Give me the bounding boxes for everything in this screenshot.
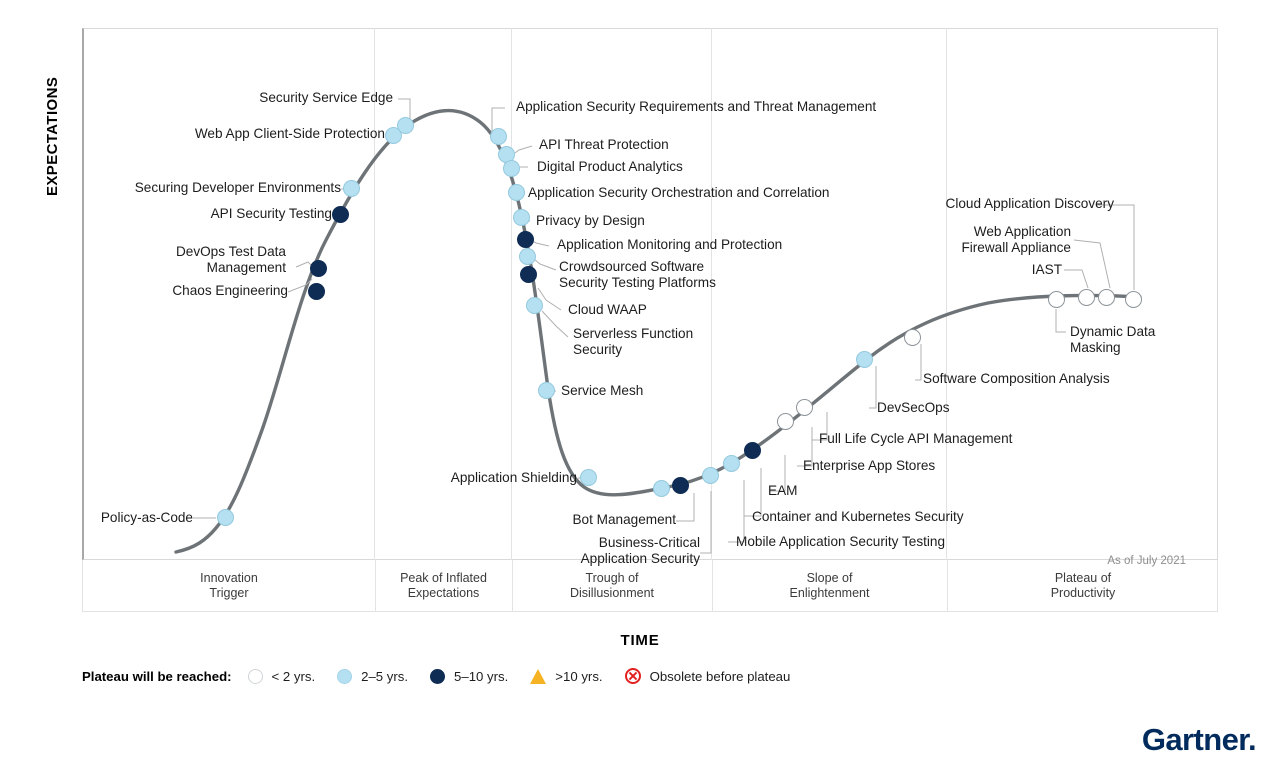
phase-plateau-of-productivity: Plateau of Productivity — [947, 560, 1219, 612]
y-axis-title: EXPECTATIONS — [44, 0, 61, 196]
label-devsecops: DevSecOps — [877, 400, 950, 416]
point-service-mesh[interactable] — [538, 382, 555, 399]
label-web-application-firewall-appliance: Web Application Firewall Appliance — [961, 224, 1071, 256]
phase-label-line: Trough of — [585, 571, 638, 586]
point-container-and-kubernetes-security[interactable] — [723, 455, 740, 472]
phase-slope-of-enlightenment: Slope of Enlightenment — [712, 560, 947, 612]
circle-open-icon — [248, 669, 263, 684]
point-bot-management[interactable] — [653, 480, 670, 497]
legend-label: 5–10 yrs. — [454, 669, 508, 684]
point-application-monitoring-and-protection[interactable] — [517, 231, 534, 248]
point-dynamic-data-masking[interactable] — [1048, 291, 1065, 308]
label-enterprise-app-stores: Enterprise App Stores — [803, 458, 935, 474]
point-business-critical-application-security[interactable] — [672, 477, 689, 494]
point-cloud-application-discovery[interactable] — [1125, 291, 1142, 308]
legend-item-lt2[interactable]: < 2 yrs. — [248, 669, 316, 684]
label-eam: EAM — [768, 483, 797, 499]
phase-label-line: Expectations — [408, 586, 480, 601]
footer-bar — [0, 706, 1280, 768]
label-cloud-waap: Cloud WAAP — [568, 302, 647, 318]
legend-item-2-5[interactable]: 2–5 yrs. — [337, 669, 408, 684]
phase-row: Innovation Trigger Peak of Inflated Expe… — [82, 560, 1218, 612]
label-digital-product-analytics: Digital Product Analytics — [537, 159, 683, 175]
legend-label: < 2 yrs. — [272, 669, 316, 684]
label-application-monitoring-and-protection: Application Monitoring and Protection — [557, 237, 782, 253]
point-serverless-function-security[interactable] — [526, 297, 543, 314]
phase-label-line: Disillusionment — [570, 586, 654, 601]
legend: Plateau will be reached: < 2 yrs. 2–5 yr… — [82, 664, 812, 688]
label-service-mesh: Service Mesh — [561, 383, 643, 399]
phase-innovation-trigger: Innovation Trigger — [83, 560, 375, 612]
label-mobile-application-security-testing: Mobile Application Security Testing — [736, 534, 945, 550]
label-web-app-client-side-protection: Web App Client-Side Protection — [195, 126, 385, 142]
legend-item-obsolete[interactable]: Obsolete before plateau — [625, 668, 791, 684]
gartner-wordmark: Gartner — [1142, 722, 1248, 757]
legend-label: 2–5 yrs. — [361, 669, 408, 684]
label-full-life-cycle-api-management: Full Life Cycle API Management — [819, 431, 1012, 447]
label-bot-management: Bot Management — [572, 512, 676, 528]
point-software-composition-analysis[interactable] — [904, 329, 921, 346]
phase-label-line: Slope of — [807, 571, 853, 586]
legend-title: Plateau will be reached: — [82, 669, 232, 684]
circle-navy-icon — [430, 669, 445, 684]
label-application-shielding: Application Shielding — [451, 470, 577, 486]
point-security-service-edge[interactable] — [397, 117, 414, 134]
point-eam[interactable] — [744, 442, 761, 459]
point-privacy-by-design[interactable] — [513, 209, 530, 226]
label-dynamic-data-masking: Dynamic Data Masking — [1070, 324, 1155, 356]
label-cloud-application-discovery: Cloud Application Discovery — [946, 196, 1115, 212]
label-securing-developer-environments: Securing Developer Environments — [135, 180, 341, 196]
label-software-composition-analysis: Software Composition Analysis — [923, 371, 1110, 387]
point-application-security-orchestration-and-correlation[interactable] — [508, 184, 525, 201]
label-application-security-requirements-and-threat-management: Application Security Requirements and Th… — [516, 99, 876, 115]
label-policy-as-code: Policy-as-Code — [101, 510, 193, 526]
point-devsecops[interactable] — [856, 351, 873, 368]
triangle-amber-icon — [530, 669, 546, 684]
label-serverless-function-security: Serverless Function Security — [573, 326, 693, 358]
phase-label-line: Productivity — [1051, 586, 1116, 601]
phase-gridline-4 — [946, 28, 947, 560]
label-crowdsourced-software-security-testing-platforms: Crowdsourced Software Security Testing P… — [559, 259, 716, 291]
legend-label: >10 yrs. — [555, 669, 602, 684]
label-iast: IAST — [1032, 262, 1062, 278]
point-iast[interactable] — [1078, 289, 1095, 306]
phase-label-line: Plateau of — [1055, 571, 1111, 586]
point-web-application-firewall-appliance[interactable] — [1098, 289, 1115, 306]
point-application-security-requirements-and-threat-management[interactable] — [490, 128, 507, 145]
x-circle-red-icon — [625, 668, 641, 684]
point-api-security-testing[interactable] — [332, 206, 349, 223]
phase-label-line: Peak of Inflated — [400, 571, 487, 586]
point-enterprise-app-stores[interactable] — [777, 413, 794, 430]
circle-lightblue-icon — [337, 669, 352, 684]
point-digital-product-analytics[interactable] — [503, 160, 520, 177]
phase-label-line: Trigger — [209, 586, 248, 601]
label-container-and-kubernetes-security: Container and Kubernetes Security — [752, 509, 964, 525]
point-cloud-waap[interactable] — [520, 266, 537, 283]
point-securing-developer-environments[interactable] — [343, 180, 360, 197]
label-application-security-orchestration-and-correlation: Application Security Orchestration and C… — [528, 185, 829, 201]
point-policy-as-code[interactable] — [217, 509, 234, 526]
phase-trough-of-disillusionment: Trough of Disillusionment — [512, 560, 712, 612]
phase-peak-of-inflated-expectations: Peak of Inflated Expectations — [375, 560, 512, 612]
point-devops-test-data-management[interactable] — [310, 260, 327, 277]
phase-gridline-1 — [374, 28, 375, 560]
label-devops-test-data-management: DevOps Test Data Management — [176, 244, 286, 276]
legend-item-gt10[interactable]: >10 yrs. — [530, 669, 602, 684]
label-security-service-edge: Security Service Edge — [259, 90, 393, 106]
gartner-logo: Gartner. — [1142, 722, 1256, 758]
x-axis-title: TIME — [0, 632, 1280, 649]
point-chaos-engineering[interactable] — [308, 283, 325, 300]
point-full-life-cycle-api-management[interactable] — [796, 399, 813, 416]
point-application-shielding[interactable] — [580, 469, 597, 486]
label-privacy-by-design: Privacy by Design — [536, 213, 645, 229]
phase-label-line: Enlightenment — [790, 586, 870, 601]
hype-cycle-chart: EXPECTATIONS TIME As of July 2021 — [0, 0, 1280, 768]
point-crowdsourced-software-security-testing-platforms[interactable] — [519, 248, 536, 265]
label-api-threat-protection: API Threat Protection — [539, 137, 669, 153]
label-chaos-engineering: Chaos Engineering — [172, 283, 288, 299]
legend-label: Obsolete before plateau — [650, 669, 791, 684]
label-api-security-testing: API Security Testing — [211, 206, 332, 222]
gartner-logo-dot: . — [1248, 722, 1256, 757]
legend-item-5-10[interactable]: 5–10 yrs. — [430, 669, 508, 684]
phase-label-line: Innovation — [200, 571, 258, 586]
point-mobile-application-security-testing[interactable] — [702, 467, 719, 484]
